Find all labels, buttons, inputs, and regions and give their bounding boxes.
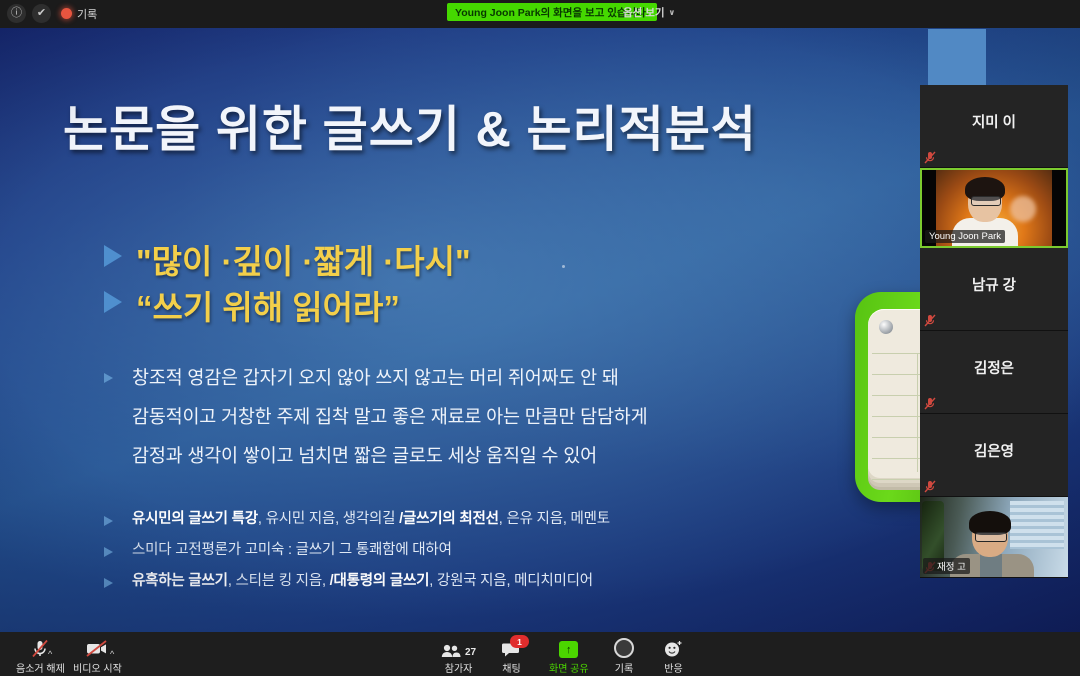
chat-unread-badge: 1 xyxy=(510,635,529,648)
reference-row: 스미다 고전평론가 고미숙 : 글쓰기 그 통쾌함에 대하여 xyxy=(104,538,610,559)
body-line: 창조적 영감은 갑자기 오지 않아 쓰지 않고는 머리 쥐어짜도 안 돼 xyxy=(132,364,619,390)
reference-text: 스미다 고전평론가 고미숙 : 글쓰기 그 통쾌함에 대하여 xyxy=(132,538,452,559)
participants-count: 27 xyxy=(465,647,476,658)
record-button[interactable]: 기록 xyxy=(614,639,634,675)
triangle-bullet-icon xyxy=(104,547,113,557)
meeting-top-bar: ⓘ ✔ 기록 Young Joon Park의 화면을 보고 있습니다. 옵션 … xyxy=(0,0,1080,28)
chat-label: 채팅 xyxy=(502,660,520,675)
zoom-meeting-window: ⓘ ✔ 기록 Young Joon Park의 화면을 보고 있습니다. 옵션 … xyxy=(0,0,1080,676)
reactions-label: 반응 xyxy=(664,660,682,675)
shared-screen-slide: 논문을 위한 글쓰기 & 논리적분석 "많이 ·깊이 ·짧게 ·다시" “쓰기 … xyxy=(0,28,1080,632)
slide-reference-block: 유시민의 글쓰기 특강, 유시민 지음, 생각의길 /글쓰기의 최전선, 은유 … xyxy=(104,507,610,600)
ref-bold-1: 유혹하는 글쓰기 xyxy=(132,573,228,589)
highlight-text: "많이 ·깊이 ·짧게 ·다시" xyxy=(136,235,471,283)
reactions-smiley-icon xyxy=(664,639,683,658)
body-line: 감동적이고 거창한 주제 집착 말고 좋은 재료로 아는 만큼만 담담하게 xyxy=(132,403,647,429)
mic-muted-icon xyxy=(924,314,936,327)
triangle-bullet-icon xyxy=(104,373,113,383)
ref-normal-2: , 은유 지음, 메멘토 xyxy=(499,511,610,527)
slide-highlight-2: “쓰기 위해 읽어라” xyxy=(104,281,400,329)
reactions-button[interactable]: 반응 xyxy=(664,639,683,675)
participant-filmstrip[interactable]: 지미 이 Young Joon Park 남규 강 김정은 xyxy=(920,85,1068,575)
reference-text: 유시민의 글쓰기 특강, 유시민 지음, 생각의길 /글쓰기의 최전선, 은유 … xyxy=(132,507,610,528)
mic-muted-icon xyxy=(924,397,936,410)
mic-options-chevron-icon[interactable]: ^ xyxy=(48,649,52,659)
participant-name: 김정은 xyxy=(920,357,1068,378)
share-screen-label: 화면 공유 xyxy=(549,660,589,675)
slide-highlight-1: "많이 ·깊이 ·짧게 ·다시" xyxy=(104,235,471,283)
slide-body-row: 창조적 영감은 갑자기 오지 않아 쓰지 않고는 머리 쥐어짜도 안 돼 xyxy=(104,364,647,390)
slide-title: 논문을 위한 글쓰기 & 논리적분석 xyxy=(63,90,863,161)
ref-normal-2: , 강원국 지음, 메디치미디어 xyxy=(429,573,593,589)
participant-name: Young Joon Park xyxy=(925,230,1005,243)
reference-text: 유혹하는 글쓰기, 스티븐 킹 지음, /대통령의 글쓰기, 강원국 지음, 메… xyxy=(132,569,593,590)
participant-name: 김은영 xyxy=(920,440,1068,461)
share-screen-icon: ↑ xyxy=(559,639,578,658)
participant-name: 재정 고 xyxy=(923,558,970,574)
reference-row: 유혹하는 글쓰기, 스티븐 킹 지음, /대통령의 글쓰기, 강원국 지음, 메… xyxy=(104,569,610,590)
triangle-bullet-icon xyxy=(104,578,113,588)
unmute-button[interactable]: 음소거 해제 xyxy=(16,639,65,675)
slide-speck xyxy=(562,265,565,268)
video-options-chevron-icon[interactable]: ^ xyxy=(110,649,114,659)
slide-body-row: 감정과 생각이 쌓이고 넘치면 짧은 글로도 세상 움직일 수 있어 xyxy=(104,442,647,468)
mic-muted-icon xyxy=(924,480,936,493)
participants-label: 참가자 xyxy=(445,660,473,675)
participant-tile-young-joon-park[interactable]: Young Joon Park xyxy=(920,168,1068,248)
chat-icon: 1 xyxy=(502,639,521,658)
encryption-shield-icon[interactable]: ✔ xyxy=(32,4,51,23)
participant-tile-jeongeun-kim[interactable]: 김정은 xyxy=(920,331,1068,414)
participant-tile-namgyu-kang[interactable]: 남규 강 xyxy=(920,248,1068,331)
highlight-text: “쓰기 위해 읽어라” xyxy=(136,281,400,329)
start-video-label: 비디오 시작 xyxy=(73,660,122,675)
triangle-bullet-icon xyxy=(104,245,122,267)
recording-dot-icon xyxy=(61,8,72,19)
slide-body-row: 감동적이고 거창한 주제 집착 말고 좋은 재료로 아는 만큼만 담담하게 xyxy=(104,403,647,429)
participant-tile-eunyeong-kim[interactable]: 김은영 xyxy=(920,414,1068,497)
record-label: 기록 xyxy=(615,660,633,675)
chevron-down-icon: ∨ xyxy=(669,8,676,17)
participant-name: 남규 강 xyxy=(920,274,1068,295)
recording-indicator[interactable]: 기록 xyxy=(61,6,97,22)
view-options-label: 옵션 보기 xyxy=(623,5,665,20)
participant-name: 지미 이 xyxy=(920,111,1068,132)
ref-normal-1: , 스티븐 킹 지음, xyxy=(228,573,330,589)
chat-button[interactable]: 1 채팅 xyxy=(502,639,521,675)
mic-muted-icon xyxy=(924,151,936,164)
reference-row: 유시민의 글쓰기 특강, 유시민 지음, 생각의길 /글쓰기의 최전선, 은유 … xyxy=(104,507,610,528)
record-circle-icon xyxy=(614,639,634,658)
ref-bold-1: 유시민의 글쓰기 특강 xyxy=(132,511,258,527)
participants-button[interactable]: 27 참가자 xyxy=(441,639,476,675)
video-off-icon xyxy=(85,639,109,658)
share-screen-button[interactable]: ↑ 화면 공유 xyxy=(549,639,589,675)
start-video-button[interactable]: 비디오 시작 xyxy=(73,639,122,675)
unmute-label: 음소거 해제 xyxy=(16,660,65,675)
top-bar-left-controls: ⓘ ✔ 기록 xyxy=(7,4,97,23)
recording-label: 기록 xyxy=(77,6,97,22)
view-options-button[interactable]: 옵션 보기 ∨ xyxy=(617,3,681,21)
ref-normal-1: , 유시민 지음, 생각의길 xyxy=(258,511,399,527)
notepad-screw-icon xyxy=(879,320,893,334)
ref-normal-1: 스미다 고전평론가 고미숙 : 글쓰기 그 통쾌함에 대하여 xyxy=(132,542,452,558)
participant-tile-jimi-lee[interactable]: 지미 이 xyxy=(920,85,1068,168)
ref-bold-2: /대통령의 글쓰기 xyxy=(330,573,430,589)
panel-blue-chip xyxy=(928,29,986,85)
participant-tile-jaejeong-go[interactable]: 재정 고 xyxy=(920,497,1068,578)
meeting-controls-toolbar: 음소거 해제 ^ 비디오 시작 ^ 27 참가자 1 채팅 xyxy=(0,632,1080,676)
info-icon[interactable]: ⓘ xyxy=(7,4,26,23)
ref-bold-2: /글쓰기의 최전선 xyxy=(399,511,499,527)
participants-icon: 27 xyxy=(441,639,476,658)
body-line: 감정과 생각이 쌓이고 넘치면 짧은 글로도 세상 움직일 수 있어 xyxy=(132,442,597,468)
triangle-bullet-icon xyxy=(104,291,122,313)
slide-body-block: 창조적 영감은 갑자기 오지 않아 쓰지 않고는 머리 쥐어짜도 안 돼 감동적… xyxy=(104,364,647,481)
triangle-bullet-icon xyxy=(104,516,113,526)
